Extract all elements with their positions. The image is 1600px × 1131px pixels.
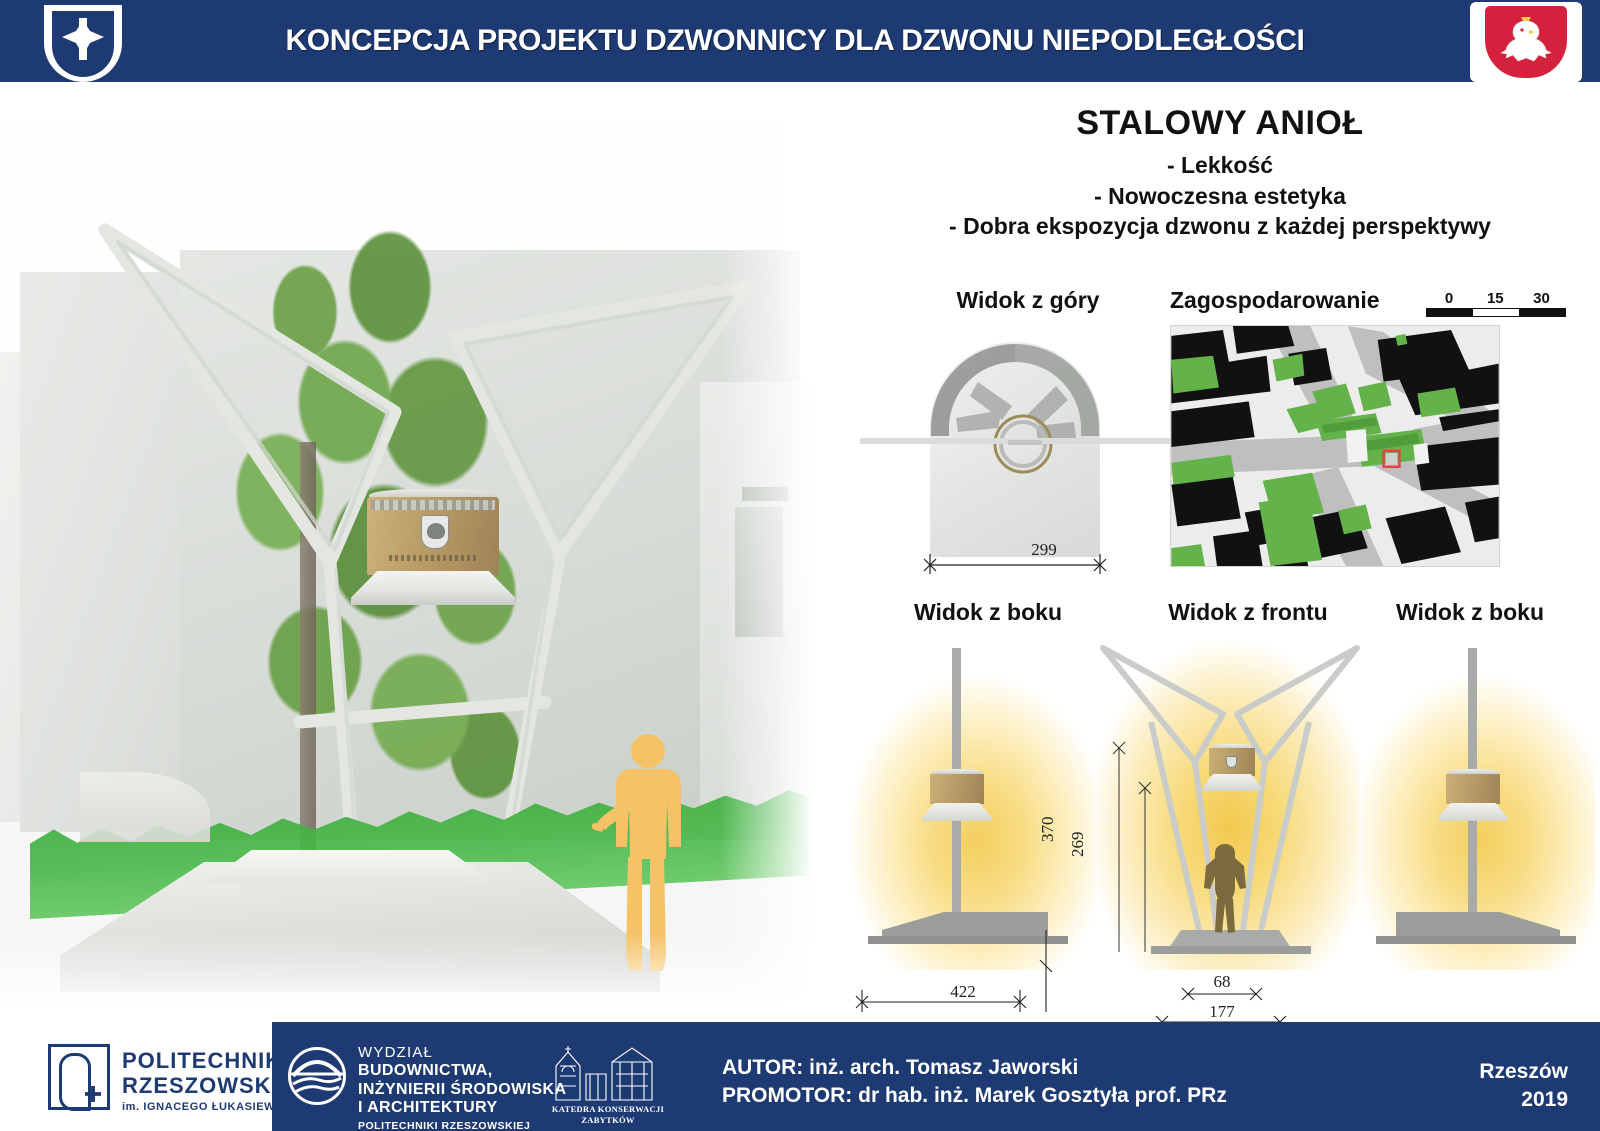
- credit-author: AUTOR: inż. arch. Tomasz Jaworski: [722, 1054, 1227, 1082]
- credit-supervisor: PROMOTOR: dr hab. inż. Marek Gosztyła pr…: [722, 1082, 1227, 1110]
- credits-block: AUTOR: inż. arch. Tomasz Jaworski PROMOT…: [722, 1054, 1227, 1111]
- university-line-2: RZESZOWSKA: [122, 1073, 303, 1098]
- faculty-line-2: BUDOWNICTWA,: [358, 1062, 566, 1081]
- place-and-year: Rzeszów 2019: [1479, 1058, 1568, 1115]
- faculty-name: WYDZIAŁ BUDOWNICTWA, INŻYNIERII ŚRODOWIS…: [358, 1044, 566, 1131]
- dimension-height-total: 370: [1038, 817, 1058, 843]
- main-3d-visualization: [0, 82, 840, 1022]
- poster-root: KONCEPCJA PROJEKTU DZWONNICY DLA DZWONU …: [0, 0, 1600, 1131]
- department-line-2: ZABYTKÓW: [548, 1115, 668, 1126]
- rzeszow-coat-of-arms-icon: [44, 5, 122, 82]
- dimension-front-base-width: 177: [1177, 1002, 1267, 1022]
- bell-ornament-band: [371, 500, 495, 510]
- city-label: Rzeszów: [1479, 1058, 1568, 1086]
- page-title: KONCEPCJA PROJEKTU DZWONNICY DLA DZWONU …: [150, 0, 1440, 82]
- bell-eagle-emblem-icon: [421, 515, 449, 549]
- bullet-item: - Dobra ekspozycja dzwonu z każdej persp…: [840, 211, 1600, 242]
- faculty-line-3: INŻYNIERII ŚRODOWISKA: [358, 1081, 566, 1100]
- year-label: 2019: [1479, 1086, 1568, 1114]
- section-label-site-plan: Zagospodarowanie: [1170, 287, 1470, 314]
- bullet-item: - Lekkość: [840, 150, 1600, 181]
- independence-bell: [345, 475, 521, 608]
- university-line-1: POLITECHNIKA: [122, 1048, 303, 1073]
- concept-bullets: - Lekkość - Nowoczesna estetyka - Dobra …: [840, 150, 1600, 242]
- faculty-line-1: WYDZIAŁ: [358, 1044, 566, 1062]
- render-bottom-fade: [0, 932, 840, 1022]
- dimension-height-bell: 269: [1068, 832, 1088, 858]
- faculty-line-5: POLITECHNIKI RZESZOWSKIEJ: [358, 1120, 566, 1131]
- dimension-side-base-width: 422: [908, 982, 1018, 1002]
- dimension-top-width: 299: [994, 540, 1094, 560]
- map-scale-bar: 0 15 30: [1426, 290, 1566, 317]
- render-right-fade: [720, 82, 840, 1022]
- scale-tick: 15: [1472, 290, 1518, 307]
- university-name: POLITECHNIKA RZESZOWSKA im. IGNACEGO ŁUK…: [122, 1048, 303, 1113]
- dimension-front-inner-width: 68: [1192, 972, 1252, 992]
- section-label-side-view-right: Widok z boku: [1345, 599, 1595, 626]
- bell-inscription: [389, 555, 479, 561]
- elevation-dimension-lines: [840, 630, 1600, 1022]
- top-view-drawing: 299: [860, 322, 1180, 582]
- department-line-1: KATEDRA KONSERWACJI: [548, 1104, 668, 1115]
- concept-title: STALOWY ANIOŁ: [840, 104, 1600, 143]
- scale-tick: 0: [1426, 290, 1472, 307]
- plinth-upper-tier: [205, 850, 495, 884]
- bullet-item: - Nowoczesna estetyka: [840, 181, 1600, 212]
- polish-eagle-coat-of-arms-icon: [1470, 2, 1582, 82]
- section-label-top-view: Widok z góry: [868, 287, 1188, 314]
- scale-tick: 30: [1518, 290, 1564, 307]
- university-line-3: im. IGNACEGO ŁUKASIEWICZA: [122, 1101, 303, 1113]
- heritage-conservation-department-logo: KATEDRA KONSERWACJI ZABYTKÓW: [548, 1044, 668, 1126]
- site-plan-map: [1170, 325, 1500, 567]
- poster-header: KONCEPCJA PROJEKTU DZWONNICY DLA DZWONU …: [0, 0, 1600, 82]
- faculty-bridge-logo: [288, 1047, 346, 1105]
- bell-skirt: [351, 571, 515, 605]
- faculty-line-4: I ARCHITEKTURY: [358, 1099, 566, 1118]
- section-label-side-view-left: Widok z boku: [848, 599, 1128, 626]
- poster-footer: POLITECHNIKA RZESZOWSKA im. IGNACEGO ŁUK…: [0, 1022, 1600, 1131]
- politechnika-rzeszowska-logo: [48, 1044, 110, 1110]
- technical-panel: STALOWY ANIOŁ - Lekkość - Nowoczesna est…: [840, 82, 1600, 1022]
